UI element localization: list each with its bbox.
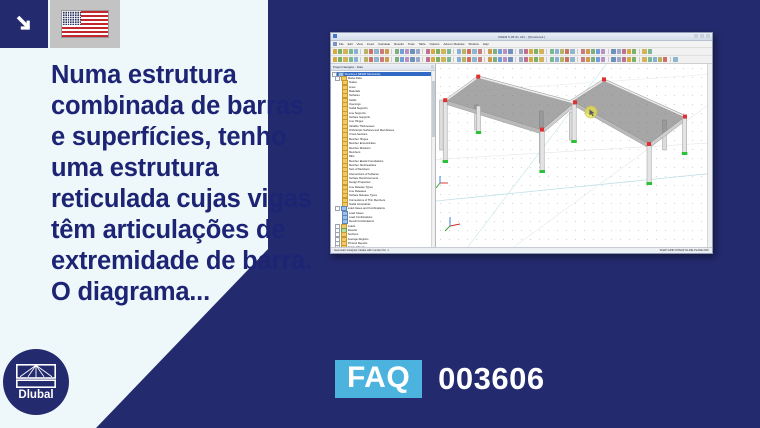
navigator-tree-item-label: Load Cases <box>349 212 363 215</box>
toolbar-button-icon[interactable] <box>385 57 389 61</box>
expander-icon[interactable] <box>338 151 341 154</box>
toolbar-button-icon[interactable] <box>581 57 585 61</box>
toolbar-button-icon[interactable] <box>648 57 652 61</box>
navigator-tree-item-label: Member Elastic Foundations <box>349 160 383 163</box>
navigator-tree-item-label: Variable Thicknesses <box>349 125 374 128</box>
toolbar-button-icon[interactable] <box>416 57 420 61</box>
toolbar-button-icon[interactable] <box>617 49 621 53</box>
navigator-header: Project Navigator - Data <box>331 64 435 71</box>
toolbar-separator <box>639 49 640 54</box>
toolbar-button-icon[interactable] <box>410 49 414 53</box>
toolbar-button-icon[interactable] <box>478 57 482 61</box>
expander-icon[interactable]: - <box>335 76 340 81</box>
toolbar-button-icon[interactable] <box>586 57 590 61</box>
toolbar-button-icon[interactable] <box>591 57 595 61</box>
toolbar-button-icon[interactable] <box>436 57 440 61</box>
toolbar-button-icon[interactable] <box>488 49 492 53</box>
toolbar-button-icon[interactable] <box>611 57 615 61</box>
window-title: RFEM 5.05.01 x64 - [Structure1] <box>498 35 544 39</box>
toolbar-button-icon[interactable] <box>591 49 595 53</box>
toolbar-button-icon[interactable] <box>385 49 389 53</box>
expander-icon[interactable] <box>338 86 341 89</box>
toolbar-button-icon[interactable] <box>333 49 337 53</box>
navigator-tree-item-label: Printout Reports <box>348 242 368 245</box>
navigator-tree-item-label: Members <box>349 151 360 154</box>
toolbar-separator <box>639 57 640 62</box>
application-body: Project Navigator - Data -Structure1 [RF… <box>331 64 712 254</box>
navigator-scrollbar[interactable] <box>431 71 435 247</box>
toolbar-separator <box>577 49 578 54</box>
toolbar-button-icon[interactable] <box>498 49 502 53</box>
model-viewport[interactable] <box>436 64 712 254</box>
navigator-title: Project Navigator - Data <box>333 65 363 69</box>
toolbar-secondary[interactable] <box>331 56 712 64</box>
expander-icon[interactable] <box>338 142 341 145</box>
toolbar-button-icon[interactable] <box>581 49 585 53</box>
application-window-screenshot[interactable]: RFEM 5.05.01 x64 - [Structure1] File Edi… <box>330 32 713 254</box>
navigator-tree-item-label: Line Hinges <box>349 120 363 123</box>
toolbar-button-icon[interactable] <box>601 57 605 61</box>
menu-item-table[interactable]: Table <box>419 42 426 46</box>
toolbar-separator <box>608 49 609 54</box>
toolbar-button-icon[interactable] <box>447 57 451 61</box>
arrow-down-right-icon <box>0 0 48 48</box>
toolbar-button-icon[interactable] <box>369 57 373 61</box>
toolbar-button-icon[interactable] <box>426 49 430 53</box>
expander-icon[interactable] <box>338 94 341 97</box>
navigator-tree-item-label: Intersections of Surfaces <box>349 173 379 176</box>
toolbar-separator <box>360 49 361 54</box>
toolbar-button-icon[interactable] <box>560 49 564 53</box>
toolbar-button-icon[interactable] <box>488 57 492 61</box>
slide-canvas: Numa estrutura combinada de barras e sup… <box>0 0 760 428</box>
toolbar-button-icon[interactable] <box>632 49 636 53</box>
toolbar-button-icon[interactable] <box>354 57 358 61</box>
toolbar-button-icon[interactable] <box>539 57 543 61</box>
us-flag-icon <box>62 11 108 37</box>
navigator-tree-item-label: Average Regions <box>348 238 369 241</box>
toolbar-button-icon[interactable] <box>457 57 461 61</box>
navigator-tree-item-label: Openings <box>349 103 361 106</box>
navigator-tree-item-label: Member Hinges <box>349 138 368 141</box>
faq-footer: FAQ 003606 <box>335 360 545 398</box>
toolbar-button-icon[interactable] <box>369 49 373 53</box>
navigator-tree-item-label: Results <box>348 229 357 232</box>
navigator-tree-item-label: Surface Release Types <box>349 194 377 197</box>
toolbar-button-icon[interactable] <box>642 49 646 53</box>
toolbar-button-icon[interactable] <box>565 57 569 61</box>
navigator-tree-item-label: Cross-Sections <box>349 133 367 136</box>
toolbar-separator <box>484 57 485 62</box>
toolbar-button-icon[interactable] <box>441 57 445 61</box>
navigator-tree-item-label: Surface Reinforcements <box>349 177 378 180</box>
faq-number: 003606 <box>438 361 544 397</box>
toolbar-button-icon[interactable] <box>498 57 502 61</box>
toolbar-button-icon[interactable] <box>570 49 574 53</box>
navigator-tree-item-label: Nodal Supports <box>349 107 368 110</box>
toolbar-separator <box>515 57 516 62</box>
toolbar-button-icon[interactable] <box>441 49 445 53</box>
toolbar-button-icon[interactable] <box>529 49 533 53</box>
toolbar-button-icon[interactable] <box>395 49 399 53</box>
expander-icon[interactable] <box>338 99 341 102</box>
expander-icon[interactable] <box>338 212 341 215</box>
toolbar-button-icon[interactable] <box>400 49 404 53</box>
toolbar-button-icon[interactable] <box>555 49 559 53</box>
toolbar-button-icon[interactable] <box>405 57 409 61</box>
menu-item-results[interactable]: Results <box>394 42 404 46</box>
toolbar-button-icon[interactable] <box>550 49 554 53</box>
toolbar-button-icon[interactable] <box>416 49 420 53</box>
toolbar-button-icon[interactable] <box>611 49 615 53</box>
toolbar-button-icon[interactable] <box>457 49 461 53</box>
toolbar-button-icon[interactable] <box>349 49 353 53</box>
structure-3d-model <box>436 64 712 254</box>
toolbar-button-icon[interactable] <box>431 49 435 53</box>
navigator-tree-item-label: Result Combinations <box>349 220 374 223</box>
menu-item-window[interactable]: Window <box>469 42 479 46</box>
toolbar-button-icon[interactable] <box>508 57 512 61</box>
toolbar-button-icon[interactable] <box>462 57 466 61</box>
expander-icon[interactable] <box>338 107 341 110</box>
toolbar-button-icon[interactable] <box>478 49 482 53</box>
menu-item-view[interactable]: View <box>357 42 363 46</box>
navigator-tree-item-label: Load Cases and Combinations <box>348 207 385 210</box>
toolbar-button-icon[interactable] <box>467 49 471 53</box>
expander-icon[interactable] <box>338 147 341 150</box>
navigator-tree-item-label: Surfaces <box>349 94 360 97</box>
toolbar-primary[interactable] <box>331 48 712 56</box>
toolbar-button-icon[interactable] <box>653 57 657 61</box>
menu-item-options[interactable]: Options <box>429 42 439 46</box>
menu-item-file[interactable]: File <box>339 42 344 46</box>
toolbar-button-icon[interactable] <box>555 57 559 61</box>
navigator-close-icon[interactable] <box>431 65 435 69</box>
navigator-tree-item-label: Member Divisions <box>349 147 371 150</box>
toolbar-button-icon[interactable] <box>617 57 621 61</box>
expander-icon[interactable] <box>338 103 341 106</box>
toolbar-button-icon[interactable] <box>663 57 667 61</box>
toolbar-button-icon[interactable] <box>570 57 574 61</box>
toolbar-button-icon[interactable] <box>333 57 337 61</box>
navigator-tree-item-label: Model Data <box>348 77 362 80</box>
flag-canton <box>62 11 81 25</box>
toolbar-button-icon[interactable] <box>400 57 404 61</box>
toolbar-button-icon[interactable] <box>405 49 409 53</box>
expander-icon[interactable] <box>338 125 341 128</box>
expander-icon[interactable] <box>338 112 341 115</box>
menu-bar[interactable]: File Edit View Insert Calculate Results … <box>331 41 712 48</box>
expander-icon[interactable] <box>338 177 341 180</box>
toolbar-button-icon[interactable] <box>529 57 533 61</box>
toolbar-separator <box>577 57 578 62</box>
toolbar-button-icon[interactable] <box>519 57 523 61</box>
toolbar-button-icon[interactable] <box>622 49 626 53</box>
navigator-tree-item-label: Loads <box>348 225 355 228</box>
toolbar-separator <box>546 57 547 62</box>
toolbar-button-icon[interactable] <box>493 49 497 53</box>
expander-icon[interactable] <box>338 168 341 171</box>
document-icon <box>333 42 337 46</box>
toolbar-button-icon[interactable] <box>410 57 414 61</box>
page-title: Numa estrutura combinada de barras e sup… <box>51 60 313 308</box>
navigator-tree-item-label: Member Eccentricities <box>349 142 376 145</box>
toolbar-separator <box>422 57 423 62</box>
navigator-tree-item-label: Lines <box>349 86 355 89</box>
toolbar-button-icon[interactable] <box>627 49 631 53</box>
expander-icon[interactable] <box>338 194 341 197</box>
navigator-tree-item-label: Line Releases <box>349 190 366 193</box>
toolbar-button-icon[interactable] <box>565 49 569 53</box>
toolbar-button-icon[interactable] <box>524 49 528 53</box>
navigator-tree-item-label: Surface Supports <box>349 116 370 119</box>
toolbar-button-icon[interactable] <box>467 57 471 61</box>
toolbar-button-icon[interactable] <box>539 49 543 53</box>
toolbar-button-icon[interactable] <box>534 57 538 61</box>
toolbar-separator <box>391 49 392 54</box>
expander-icon[interactable] <box>338 173 341 176</box>
menu-item-insert[interactable]: Insert <box>367 42 374 46</box>
navigator-tree-item-label: Sets of Members <box>349 168 370 171</box>
navigator-tree-item-label: Line Release Types <box>349 186 373 189</box>
menu-item-tools[interactable]: Tools <box>408 42 415 46</box>
toolbar-button-icon[interactable] <box>374 49 378 53</box>
expander-icon[interactable] <box>338 190 341 193</box>
toolbar-button-icon[interactable] <box>596 49 600 53</box>
navigator-tree-item-label: Design Properties <box>349 181 371 184</box>
toolbar-button-icon[interactable] <box>380 57 384 61</box>
toolbar-button-icon[interactable] <box>642 57 646 61</box>
toolbar-separator <box>453 49 454 54</box>
toolbar-separator <box>546 49 547 54</box>
toolbar-button-icon[interactable] <box>648 49 652 53</box>
toolbar-button-icon[interactable] <box>354 49 358 53</box>
toolbar-separator <box>453 57 454 62</box>
navigator-tree-item-label: Orthotropic Surfaces and Membranes <box>349 129 394 132</box>
toolbar-button-icon[interactable] <box>374 57 378 61</box>
toolbar-button-icon[interactable] <box>338 57 342 61</box>
expander-icon[interactable] <box>338 181 341 184</box>
expander-icon[interactable] <box>338 155 341 158</box>
navigator-tree-item-label: Nodes <box>349 81 357 84</box>
navigator-tree-item-label: Solids <box>349 99 356 102</box>
toolbar-separator <box>670 57 671 62</box>
expander-icon[interactable] <box>338 133 341 136</box>
toolbar-button-icon[interactable] <box>632 57 636 61</box>
toolbar-button-icon[interactable] <box>436 49 440 53</box>
toolbar-button-icon[interactable] <box>343 49 347 53</box>
status-left-text: Geometric Analysis: Nodes with number No… <box>334 249 389 252</box>
navigator-tree-item-label: Connections of Thin Members <box>349 199 385 202</box>
viewport-scrollbar-vertical[interactable] <box>707 64 712 254</box>
toolbar-button-icon[interactable] <box>503 57 507 61</box>
toolbar-button-icon[interactable] <box>673 57 677 61</box>
toolbar-button-icon[interactable] <box>431 57 435 61</box>
expander-icon[interactable]: - <box>335 206 340 211</box>
dlubal-logo-text: Dlubal <box>18 389 53 401</box>
navigator-tree-item-label: Ribs <box>349 155 354 158</box>
expander-icon[interactable] <box>338 216 341 219</box>
window-controls[interactable] <box>694 34 710 38</box>
menu-item-addon-modules[interactable]: Add-on Modules <box>443 42 464 46</box>
toolbar-button-icon[interactable] <box>601 49 605 53</box>
expander-icon[interactable] <box>338 116 341 119</box>
menu-item-help[interactable]: Help <box>483 42 489 46</box>
navigator-tree-item-label: Nodal Constraints <box>349 203 371 206</box>
navigator-tree-item-label: Load Combinations <box>349 216 372 219</box>
navigator-tree-item-label: Line Supports <box>349 112 366 115</box>
toolbar-button-icon[interactable] <box>338 49 342 53</box>
toolbar-button-icon[interactable] <box>426 57 430 61</box>
status-right-text: SNAP GRID OSNAP GLINE PLANE DXF <box>660 249 709 252</box>
toolbar-button-icon[interactable] <box>658 57 662 61</box>
toolbar-button-icon[interactable] <box>493 57 497 61</box>
toolbar-button-icon[interactable] <box>524 57 528 61</box>
toolbar-button-icon[interactable] <box>622 57 626 61</box>
toolbar-separator <box>484 49 485 54</box>
toolbar-separator <box>422 49 423 54</box>
toolbar-separator <box>515 49 516 54</box>
expander-icon[interactable] <box>338 199 341 202</box>
navigator-tree-item-label: Sections <box>348 233 358 236</box>
navigator-tree[interactable]: -Structure1 [RFEM Structure1]-Model Data… <box>331 71 435 247</box>
toolbar-button-icon[interactable] <box>586 49 590 53</box>
toolbar-button-icon[interactable] <box>462 49 466 53</box>
toolbar-separator <box>391 57 392 62</box>
toolbar-separator <box>360 57 361 62</box>
toolbar-button-icon[interactable] <box>508 49 512 53</box>
toolbar-button-icon[interactable] <box>560 57 564 61</box>
toolbar-button-icon[interactable] <box>534 49 538 53</box>
toolbar-button-icon[interactable] <box>343 57 347 61</box>
app-icon <box>333 34 337 38</box>
toolbar-button-icon[interactable] <box>349 57 353 61</box>
dlubal-bridge-logo-icon <box>16 364 56 388</box>
faq-badge: FAQ <box>335 360 422 398</box>
expander-icon[interactable] <box>338 160 341 163</box>
expander-icon[interactable] <box>338 81 341 84</box>
toolbar-button-icon[interactable] <box>519 49 523 53</box>
toolbar-button-icon[interactable] <box>550 57 554 61</box>
toolbar-button-icon[interactable] <box>472 57 476 61</box>
navigator-tree-item-label: Member Nonlinearities <box>349 164 376 167</box>
status-bar: Geometric Analysis: Nodes with number No… <box>331 247 712 253</box>
toolbar-separator <box>608 57 609 62</box>
toolbar-button-icon[interactable] <box>596 57 600 61</box>
toolbar-button-icon[interactable] <box>503 49 507 53</box>
expander-icon[interactable] <box>338 164 341 167</box>
expander-icon[interactable] <box>338 120 341 123</box>
project-navigator-panel[interactable]: Project Navigator - Data -Structure1 [RF… <box>331 64 436 254</box>
menu-item-edit[interactable]: Edit <box>348 42 353 46</box>
menu-item-calculate[interactable]: Calculate <box>378 42 390 46</box>
expander-icon[interactable] <box>338 129 341 132</box>
window-titlebar: RFEM 5.05.01 x64 - [Structure1] <box>331 33 712 41</box>
toolbar-button-icon[interactable] <box>364 57 368 61</box>
expander-icon[interactable] <box>338 90 341 93</box>
toolbar-button-icon[interactable] <box>395 57 399 61</box>
toolbar-button-icon[interactable] <box>447 49 451 53</box>
language-flag-box <box>50 0 120 48</box>
toolbar-button-icon[interactable] <box>380 49 384 53</box>
expander-icon[interactable] <box>338 138 341 141</box>
toolbar-button-icon[interactable] <box>364 49 368 53</box>
dlubal-logo: Dlubal <box>3 349 69 415</box>
expander-icon[interactable] <box>338 186 341 189</box>
toolbar-button-icon[interactable] <box>627 57 631 61</box>
navigator-tree-item-label: Materials <box>349 90 360 93</box>
navigator-tree-root-label: Structure1 [RFEM Structure1] <box>345 73 381 76</box>
toolbar-button-icon[interactable] <box>472 49 476 53</box>
